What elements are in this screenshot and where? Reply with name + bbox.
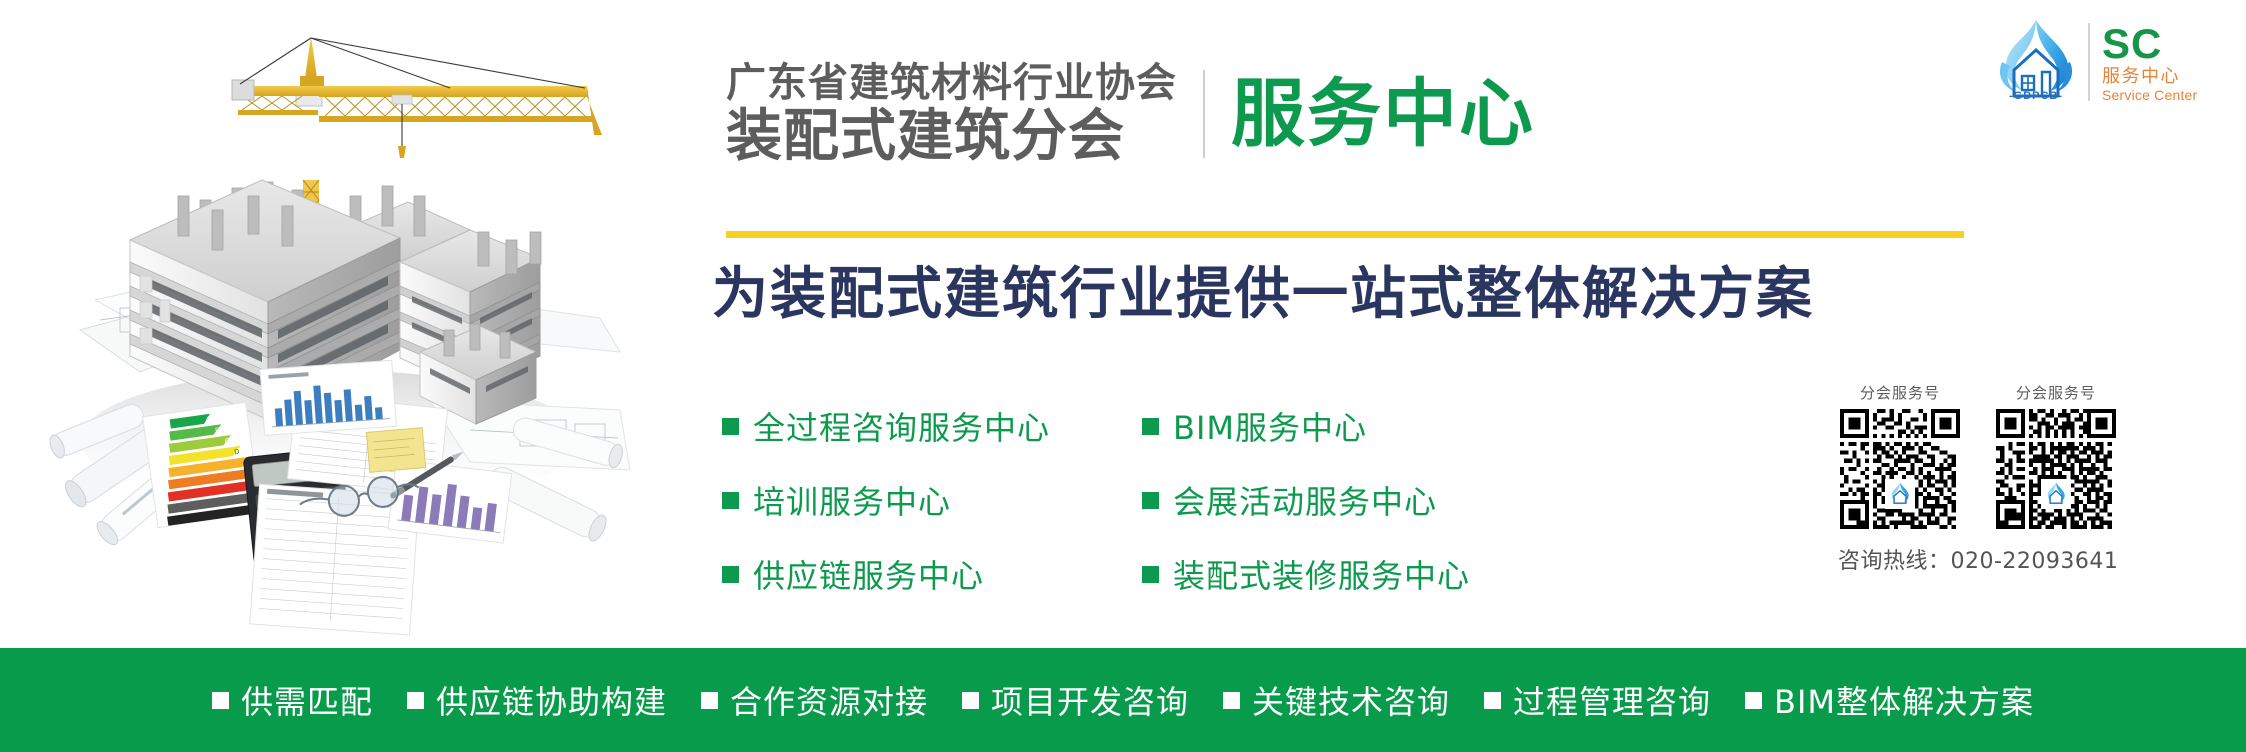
qr-code-icon[interactable] [1996,409,2116,529]
yellow-divider-rule [726,231,1964,238]
square-bullet-icon [1484,692,1501,709]
service-label: BIM服务中心 [1173,403,1367,449]
bar-chart-printout-blue [260,360,396,435]
service-center-lists: 全过程咨询服务中心 培训服务中心 供应链服务中心 BIM服务中心 会展活动服务中… [722,400,1802,622]
bottom-capability-bar: 供需匹配 供应链协助构建 合作资源对接 项目开发咨询 关键技术咨询 过程管理咨询 [0,648,2246,752]
square-bullet-icon [701,692,718,709]
association-name-line1: 广东省建筑材料行业协会 [726,63,1177,103]
capability-label: 供应链协助构建 [436,677,667,723]
vertical-divider-icon [1203,70,1205,158]
service-list-right: BIM服务中心 会展活动服务中心 装配式装修服务中心 [1142,400,1622,622]
logo-cn-label: 服务中心 [2102,68,2180,86]
list-item[interactable]: BIM整体解决方案 [1745,677,2034,723]
service-label: 供应链服务中心 [753,551,984,597]
square-bullet-icon [1142,566,1159,583]
square-bullet-icon [722,566,739,583]
vertical-divider-icon [2088,23,2090,101]
house-flame-icon [1885,479,1915,509]
list-item[interactable]: 项目开发咨询 [962,677,1189,723]
qr-card[interactable]: 分会服务号 [1994,382,2118,529]
capability-label: BIM整体解决方案 [1774,677,2034,723]
square-bullet-icon [722,492,739,509]
svg-text:C: C [224,438,230,446]
page-title: 为装配式建筑行业提供一站式整体解决方案 [712,264,1814,326]
association-name-line2: 装配式建筑分会 [726,109,1177,165]
list-item[interactable]: 合作资源对接 [701,677,928,723]
logo-mark-caption: -GDPCB- [1988,90,2084,102]
service-label: 会展活动服务中心 [1173,477,1437,523]
list-item[interactable]: 供应链服务中心 [722,548,1142,600]
square-bullet-icon [1142,492,1159,509]
qr-code-row: 分会服务号 [1838,382,2228,529]
service-label: 装配式装修服务中心 [1173,551,1470,597]
square-bullet-icon [962,692,979,709]
list-item[interactable]: 关键技术咨询 [1223,677,1450,723]
square-bullet-icon [1142,418,1159,435]
list-item[interactable]: 过程管理咨询 [1484,677,1711,723]
qr-code-icon[interactable] [1840,409,1960,529]
logo-en-label: Service Center [2102,88,2197,102]
sticky-note [366,428,425,473]
capability-label: 项目开发咨询 [991,677,1189,723]
capability-label: 合作资源对接 [730,677,928,723]
list-item[interactable]: 会展活动服务中心 [1142,474,1622,526]
bar-chart-printout-purple [388,459,512,543]
qr-contact-block: 分会服务号 [1838,382,2228,575]
banner-root: AB CD EF GH [0,0,2246,752]
square-bullet-icon [212,692,229,709]
list-item[interactable]: 全过程咨询服务中心 [722,400,1142,452]
list-item[interactable]: 培训服务中心 [722,474,1142,526]
construction-site-illustration: AB CD EF GH [0,0,640,648]
svg-text:D: D [234,449,240,457]
qr-caption: 分会服务号 [2016,382,2096,403]
qr-card[interactable]: 分会服务号 [1838,382,1962,529]
square-bullet-icon [1223,692,1240,709]
capability-label: 供需匹配 [241,677,373,723]
house-flame-icon [2041,479,2071,509]
service-list-left: 全过程咨询服务中心 培训服务中心 供应链服务中心 [722,400,1142,622]
capability-label: 过程管理咨询 [1513,677,1711,723]
service-label: 培训服务中心 [753,477,951,523]
service-label: 全过程咨询服务中心 [753,403,1050,449]
logo-initials: SC [2102,23,2162,65]
masthead: 广东省建筑材料行业协会 装配式建筑分会 服务中心 [726,46,1966,182]
logo-lockup: -GDPCB- SC 服务中心 Service Center [1988,12,2240,112]
list-item[interactable]: 供需匹配 [212,677,373,723]
qr-caption: 分会服务号 [1860,382,1940,403]
list-item[interactable]: 装配式装修服务中心 [1142,548,1622,600]
association-name: 广东省建筑材料行业协会 装配式建筑分会 [726,63,1177,165]
logo-wordmark: SC 服务中心 Service Center [2102,23,2240,102]
hotline-text: 咨询热线：020-22093641 [1838,543,2228,575]
square-bullet-icon [722,418,739,435]
house-flame-icon: -GDPCB- [1988,14,2084,110]
list-item[interactable]: BIM服务中心 [1142,400,1622,452]
square-bullet-icon [407,692,424,709]
bottom-items: 供需匹配 供应链协助构建 合作资源对接 项目开发咨询 关键技术咨询 过程管理咨询 [212,677,2034,723]
service-center-title: 服务中心 [1231,77,1535,151]
square-bullet-icon [1745,692,1762,709]
list-item[interactable]: 供应链协助构建 [407,677,667,723]
capability-label: 关键技术咨询 [1252,677,1450,723]
